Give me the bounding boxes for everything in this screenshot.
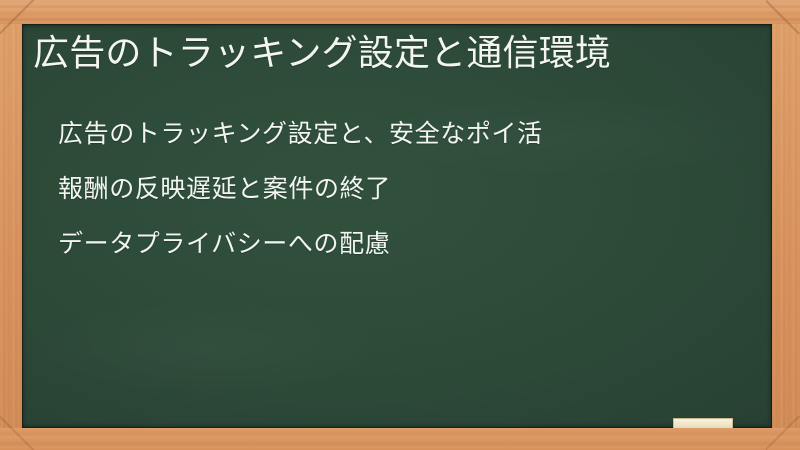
list-item: 報酬の反映遅延と案件の終了 xyxy=(58,161,748,216)
chalkboard-slide: 広告のトラッキング設定と通信環境 広告のトラッキング設定と、安全なポイ活 報酬の… xyxy=(0,0,800,450)
list-item: データプライバシーへの配慮 xyxy=(58,216,748,271)
bullet-list: 広告のトラッキング設定と、安全なポイ活 報酬の反映遅延と案件の終了 データプライ… xyxy=(58,106,748,271)
slide-title: 広告のトラッキング設定と通信環境 xyxy=(33,32,743,76)
chalkboard-surface: 広告のトラッキング設定と通信環境 広告のトラッキング設定と、安全なポイ活 報酬の… xyxy=(22,24,772,428)
list-item: 広告のトラッキング設定と、安全なポイ活 xyxy=(58,106,748,161)
frame-rail-bottom xyxy=(0,428,800,450)
frame-rail-top xyxy=(0,0,800,24)
chalk-eraser-icon xyxy=(673,418,733,428)
